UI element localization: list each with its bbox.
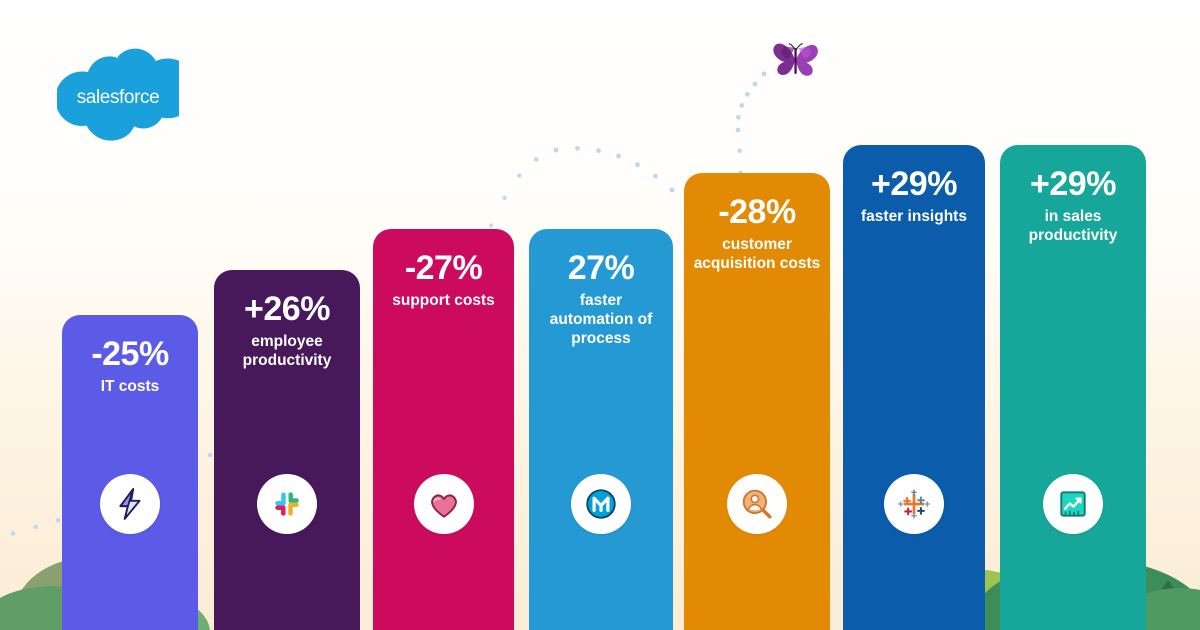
bar-label: employee productivity [214, 333, 360, 370]
salesforce-cloud-logo: salesforce [57, 46, 179, 146]
bar-4[interactable]: 27%faster automation of process [529, 229, 673, 630]
lightning-bolt-icon [100, 474, 160, 534]
bar-label: faster insights [843, 208, 985, 227]
bar-label: in sales productivity [1000, 208, 1146, 245]
bar-value: 27% [529, 251, 673, 286]
slack-icon [257, 474, 317, 534]
mulesoft-icon [571, 474, 631, 534]
bar-6[interactable]: +29%faster insights [843, 145, 985, 630]
heart-icon [414, 474, 474, 534]
bar-value: +26% [214, 292, 360, 327]
bar-value: +29% [843, 167, 985, 202]
bar-5[interactable]: -28%customer acquisition costs [684, 173, 830, 630]
bar-1[interactable]: -25%IT costs [62, 315, 198, 630]
butterfly-icon [768, 38, 824, 82]
bar-value: +29% [1000, 167, 1146, 202]
tableau-icon [884, 474, 944, 534]
bar-content: +29%in sales productivity [1000, 145, 1146, 630]
bar-content: -25%IT costs [62, 315, 198, 630]
bar-value: -28% [684, 195, 830, 230]
salesforce-logo: salesforce [57, 46, 179, 146]
bar-content: -28%customer acquisition costs [684, 173, 830, 630]
bar-label: support costs [373, 292, 514, 311]
bar-content: 27%faster automation of process [529, 229, 673, 630]
bar-value: -25% [62, 337, 198, 372]
bar-label: customer acquisition costs [684, 236, 830, 273]
infographic-canvas: salesforce [0, 0, 1200, 630]
bar-content: -27%support costs [373, 229, 514, 630]
bar-7[interactable]: +29%in sales productivity [1000, 145, 1146, 630]
bar-3[interactable]: -27%support costs [373, 229, 514, 630]
customer-search-icon [727, 474, 787, 534]
bar-label: IT costs [62, 378, 198, 397]
bar-label: faster automation of process [529, 292, 673, 348]
bar-value: -27% [373, 251, 514, 286]
bar-content: +26%employee productivity [214, 270, 360, 630]
bar-2[interactable]: +26%employee productivity [214, 270, 360, 630]
svg-text:salesforce: salesforce [77, 87, 160, 108]
sales-chart-icon [1043, 474, 1103, 534]
bar-content: +29%faster insights [843, 145, 985, 630]
